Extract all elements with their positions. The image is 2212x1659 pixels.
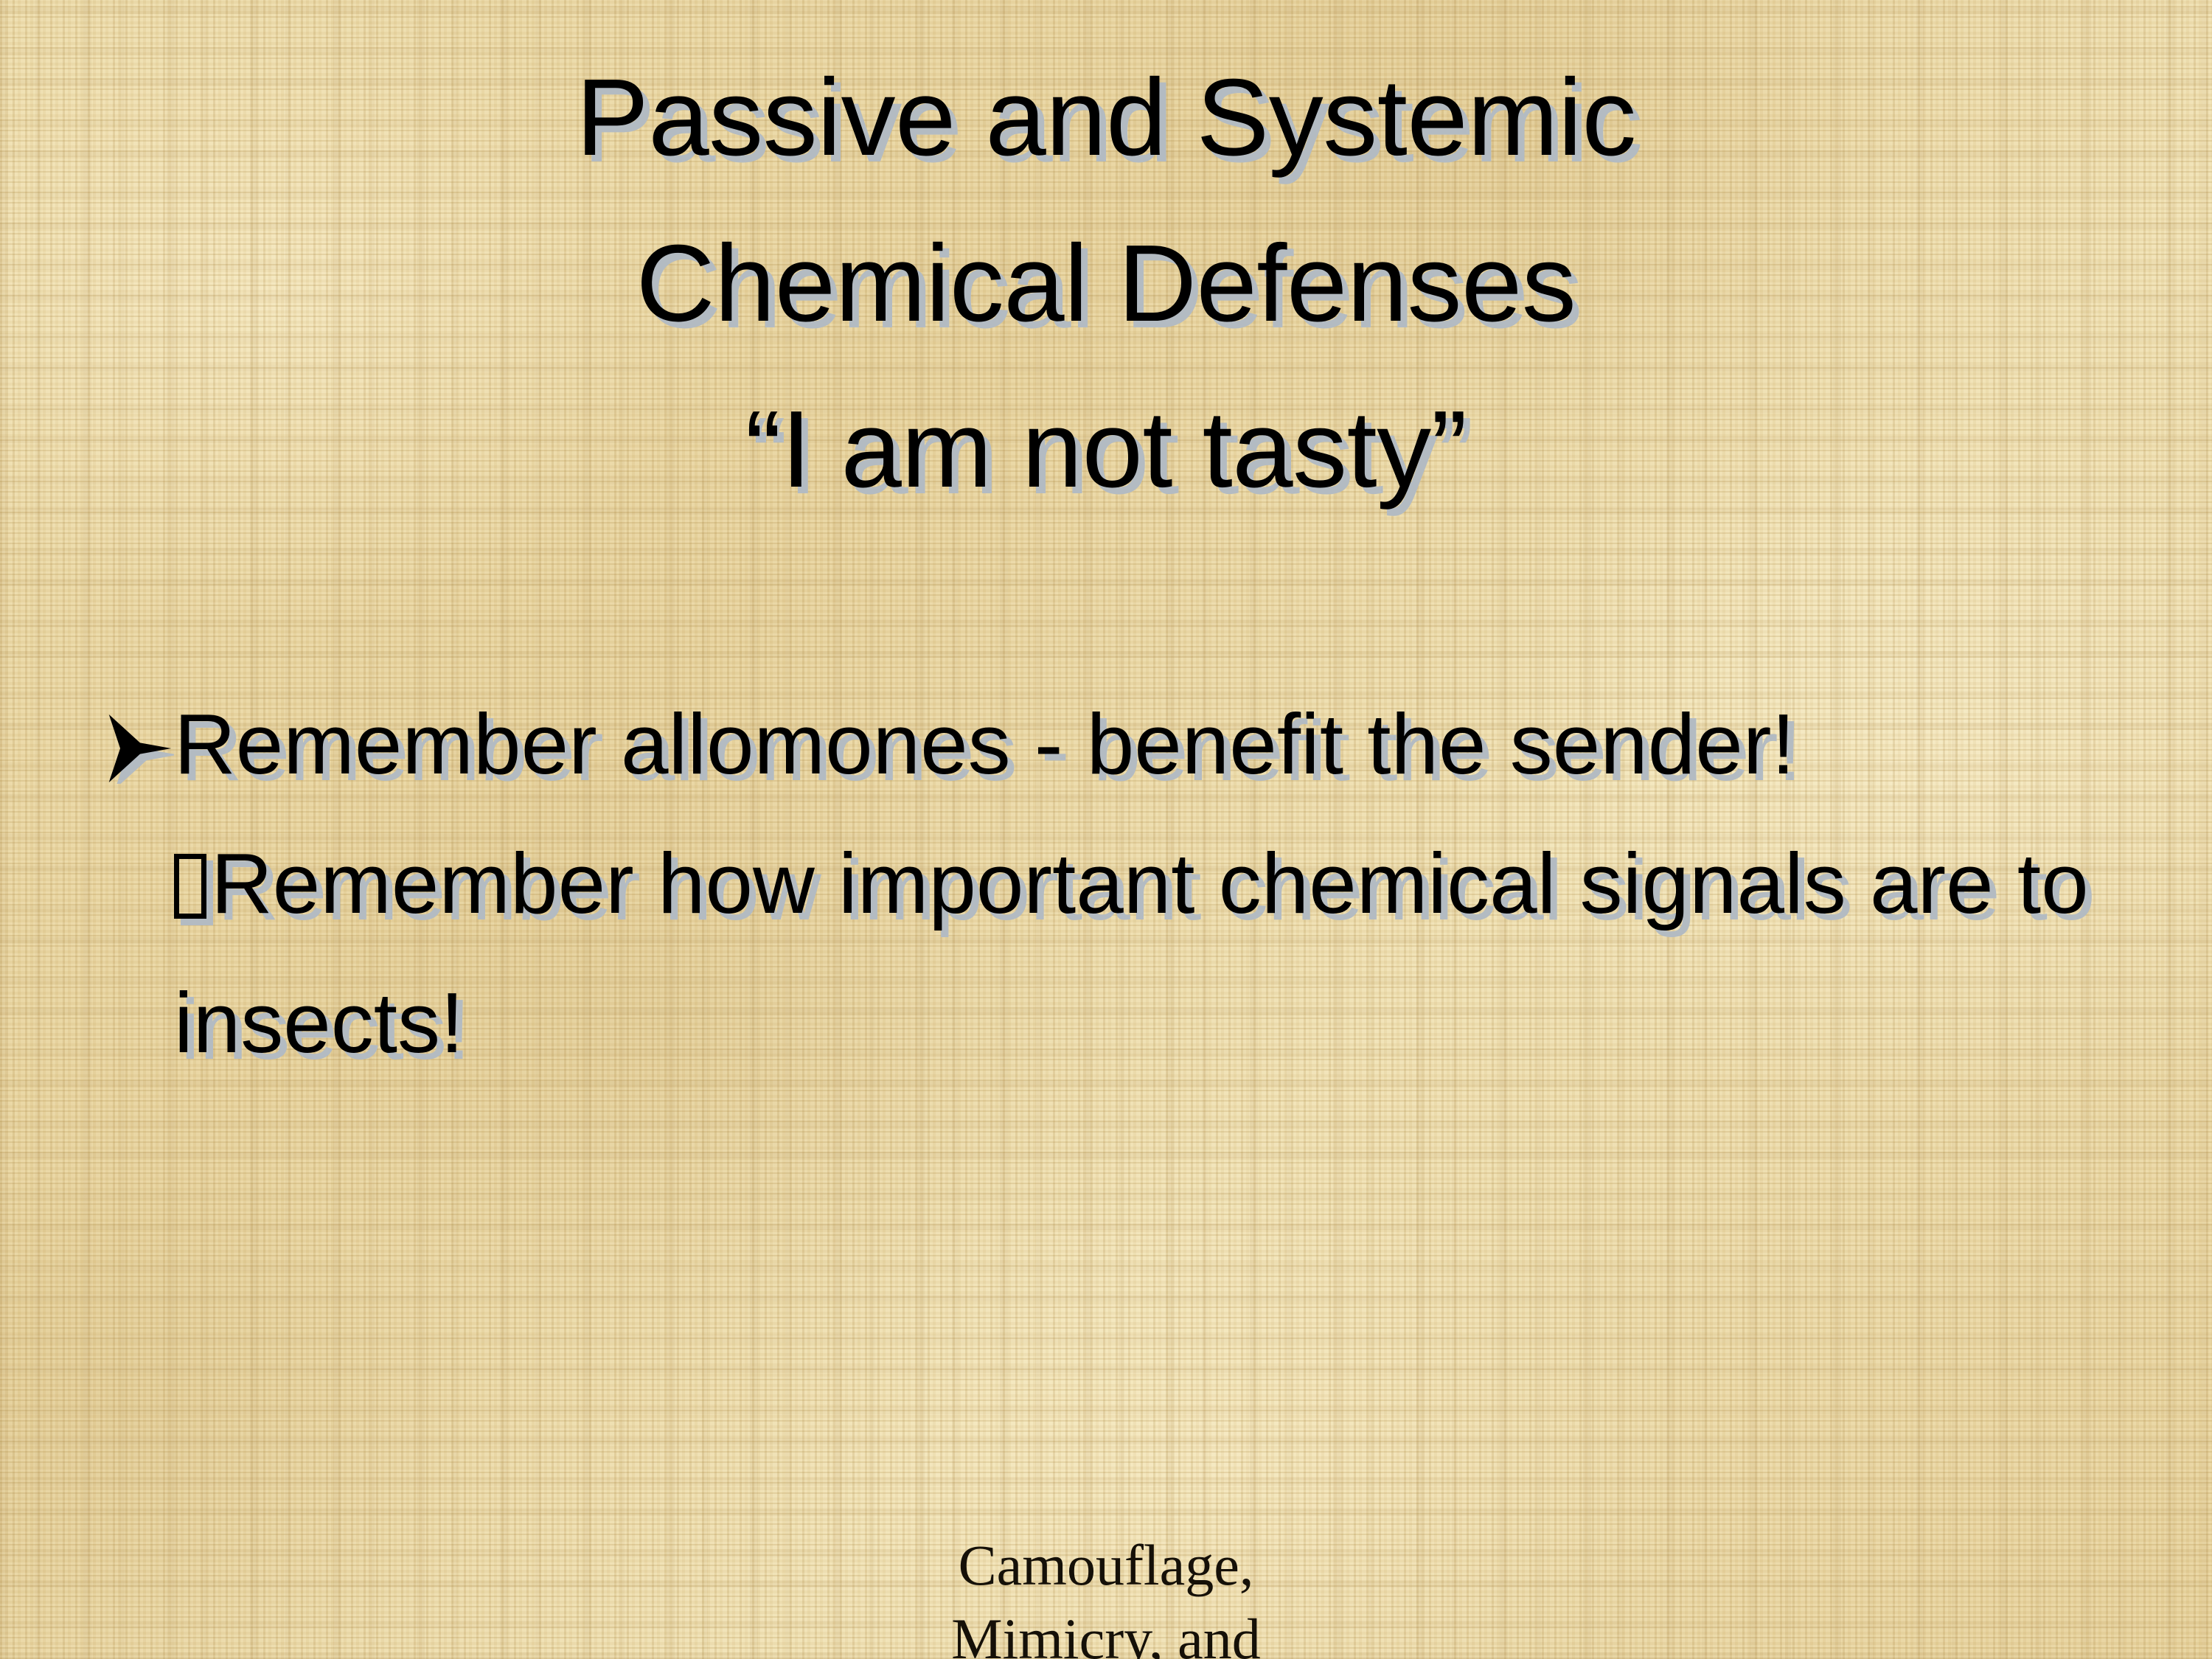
bullet-text-1: Remember allomones - benefit the sender! bbox=[174, 696, 1795, 792]
missing-glyph-box-bullet-icon bbox=[174, 854, 206, 919]
bullet-item-1: Remember allomones - benefit the sender! bbox=[174, 675, 2180, 814]
slide-title: Passive and Systemic Chemical Defenses “… bbox=[0, 35, 2212, 533]
title-line-3: “I am not tasty” bbox=[0, 367, 2212, 533]
footer-line-1: Camouflage, bbox=[0, 1528, 2212, 1602]
title-line-2: Chemical Defenses bbox=[0, 201, 2212, 367]
presentation-slide: Passive and Systemic Chemical Defenses “… bbox=[0, 0, 2212, 1659]
title-line-1: Passive and Systemic bbox=[0, 35, 2212, 201]
footer-line-2: Mimicry, and bbox=[0, 1602, 2212, 1659]
bullet-text-2: Remember how important chemical signals … bbox=[174, 835, 2089, 1071]
bullet-item-2: Remember how important chemical signals … bbox=[174, 814, 2180, 1093]
slide-footer: Camouflage, Mimicry, and bbox=[0, 1528, 2212, 1659]
four-pointed-star-bullet-icon bbox=[103, 713, 174, 784]
slide-body: Remember allomones - benefit the sender!… bbox=[174, 675, 2180, 1093]
